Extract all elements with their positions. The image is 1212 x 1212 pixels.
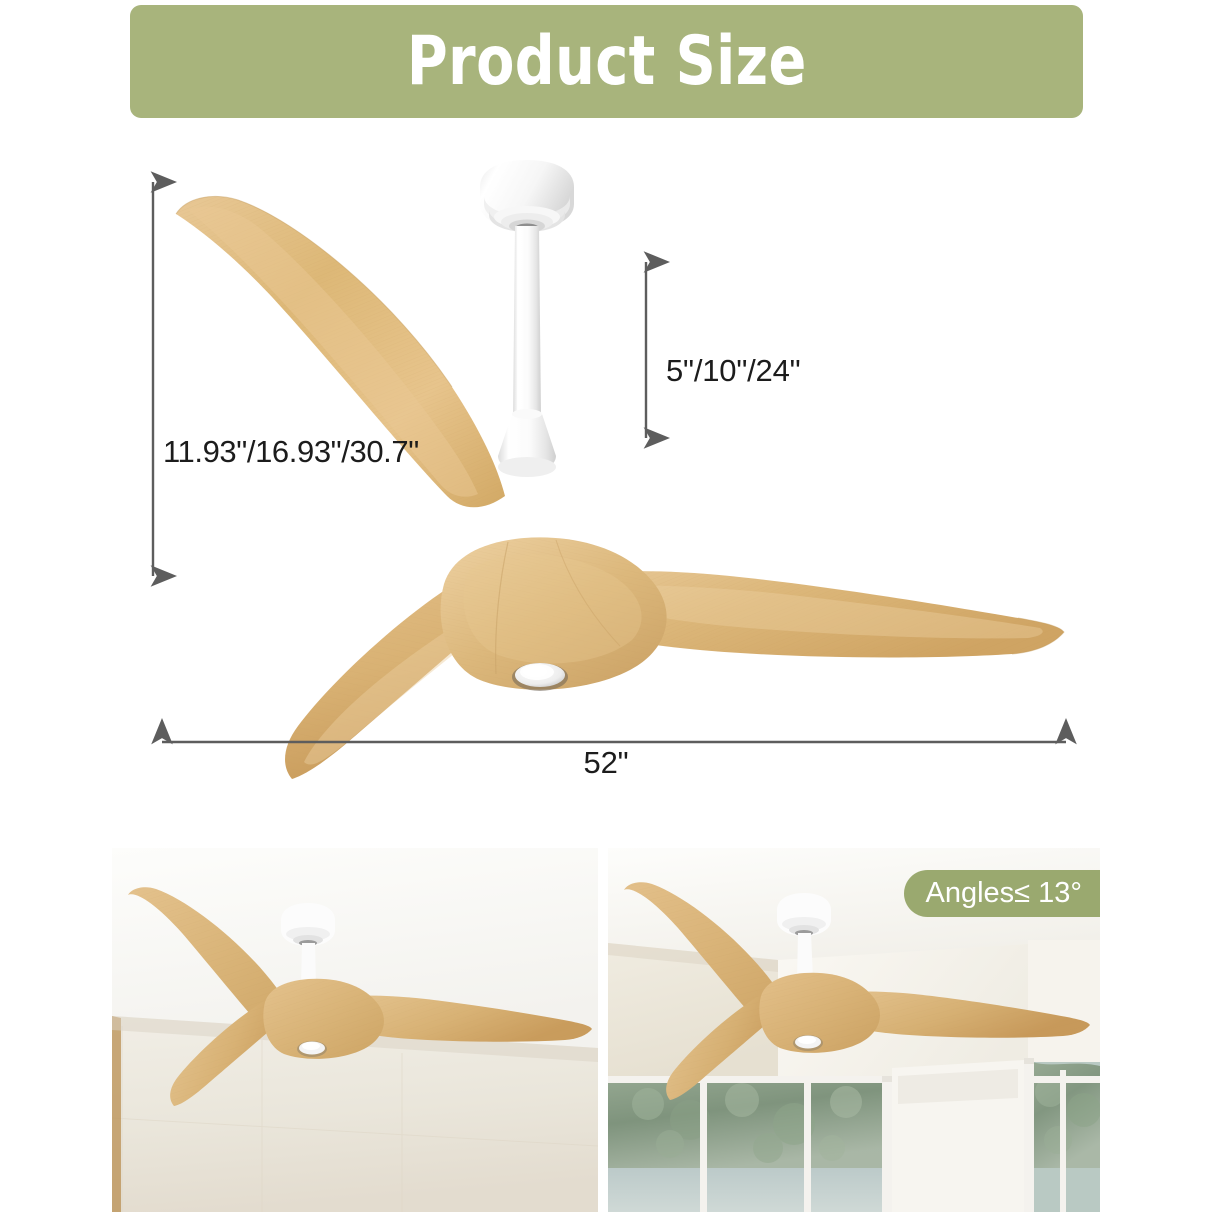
- photo-room-neutral-image: [112, 848, 598, 1212]
- fan-hub: [441, 537, 667, 691]
- fan-illustration: [176, 160, 1064, 779]
- motor-housing: [498, 409, 556, 477]
- dimension-diagram: 11.93"/16.93"/30.7" 5"/10"/24" 52": [0, 118, 1212, 830]
- photo-room-window[interactable]: Angles≤ 13°: [608, 848, 1100, 1212]
- angle-badge: Angles≤ 13°: [904, 870, 1101, 917]
- downrod: [513, 226, 541, 418]
- product-size-banner: Product Size: [130, 5, 1083, 118]
- canopy: [480, 160, 574, 233]
- lifestyle-photo-row: Angles≤ 13°: [0, 848, 1212, 1212]
- angle-badge-label: Angles≤ 13°: [926, 879, 1083, 908]
- page-title: Product Size: [407, 28, 807, 96]
- drop-dimension-label: 5"/10"/24": [666, 355, 800, 386]
- fan-diagram-svg: [0, 118, 1212, 830]
- height-dimension-label: 11.93"/16.93"/30.7": [163, 436, 419, 467]
- photo-room-neutral[interactable]: [112, 848, 598, 1212]
- span-dimension-label: 52": [0, 747, 1212, 778]
